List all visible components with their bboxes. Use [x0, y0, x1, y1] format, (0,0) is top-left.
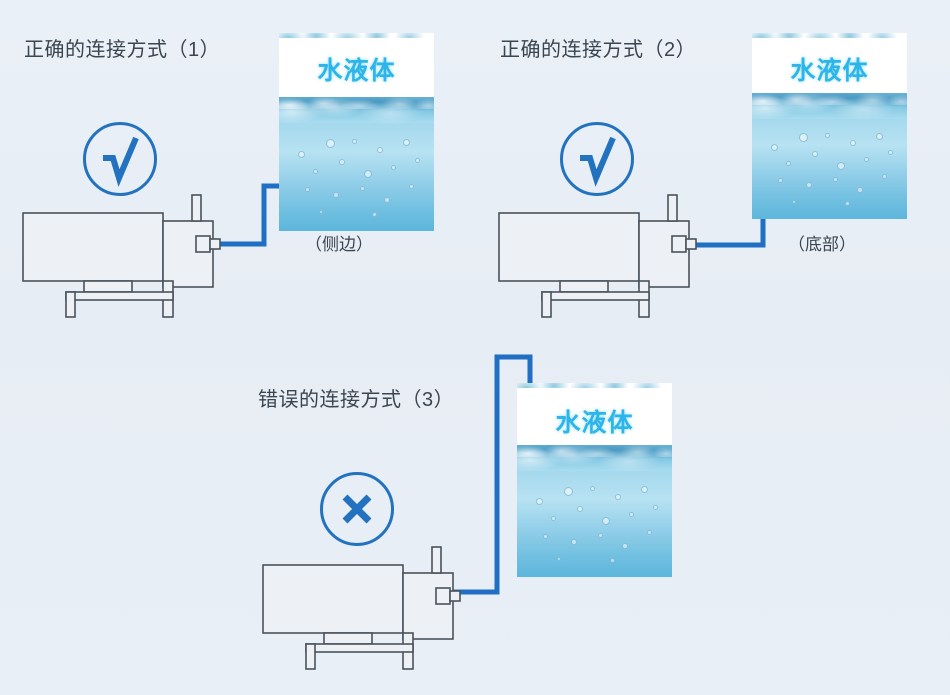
tank-label-2: 水液体 [752, 59, 907, 84]
panel-correct-2: 正确的连接方式（2） 水液体 [480, 0, 950, 340]
panel-correct-1: 正确的连接方式（1） 水液体 [0, 0, 470, 340]
tank-label-1: 水液体 [279, 59, 434, 84]
cross-mark-icon-3 [320, 472, 394, 546]
water-body-1 [279, 111, 434, 231]
water-surface-2 [752, 93, 907, 119]
water-body-2 [752, 107, 907, 219]
pump-assembly-2 [494, 188, 714, 323]
tank-label-3: 水液体 [517, 411, 672, 436]
water-crest-highlight-3 [517, 383, 672, 388]
panel-2-title: 正确的连接方式（2） [500, 40, 696, 60]
water-crest-highlight-2 [752, 33, 907, 38]
liquid-tank-1: 水液体 [279, 33, 434, 231]
panel-2-caption: （底部） [788, 236, 856, 253]
water-surface-1 [279, 97, 434, 123]
diagram-canvas: 正确的连接方式（1） 水液体 [0, 0, 950, 695]
panel-incorrect-3: 错误的连接方式（3） 水液体 [240, 340, 720, 695]
check-mark-icon-2 [560, 122, 634, 196]
liquid-tank-3: 水液体 [517, 383, 672, 577]
pump-assembly-1 [18, 188, 238, 323]
pump-assembly-3 [258, 540, 478, 675]
water-surface-3 [517, 445, 672, 471]
water-body-3 [517, 459, 672, 577]
panel-1-caption: （侧边） [305, 236, 373, 253]
water-crest-highlight-1 [279, 33, 434, 38]
check-mark-icon-1 [83, 122, 157, 196]
panel-1-title: 正确的连接方式（1） [24, 40, 220, 60]
panel-3-title: 错误的连接方式（3） [258, 390, 454, 410]
liquid-tank-2: 水液体 [752, 33, 907, 219]
